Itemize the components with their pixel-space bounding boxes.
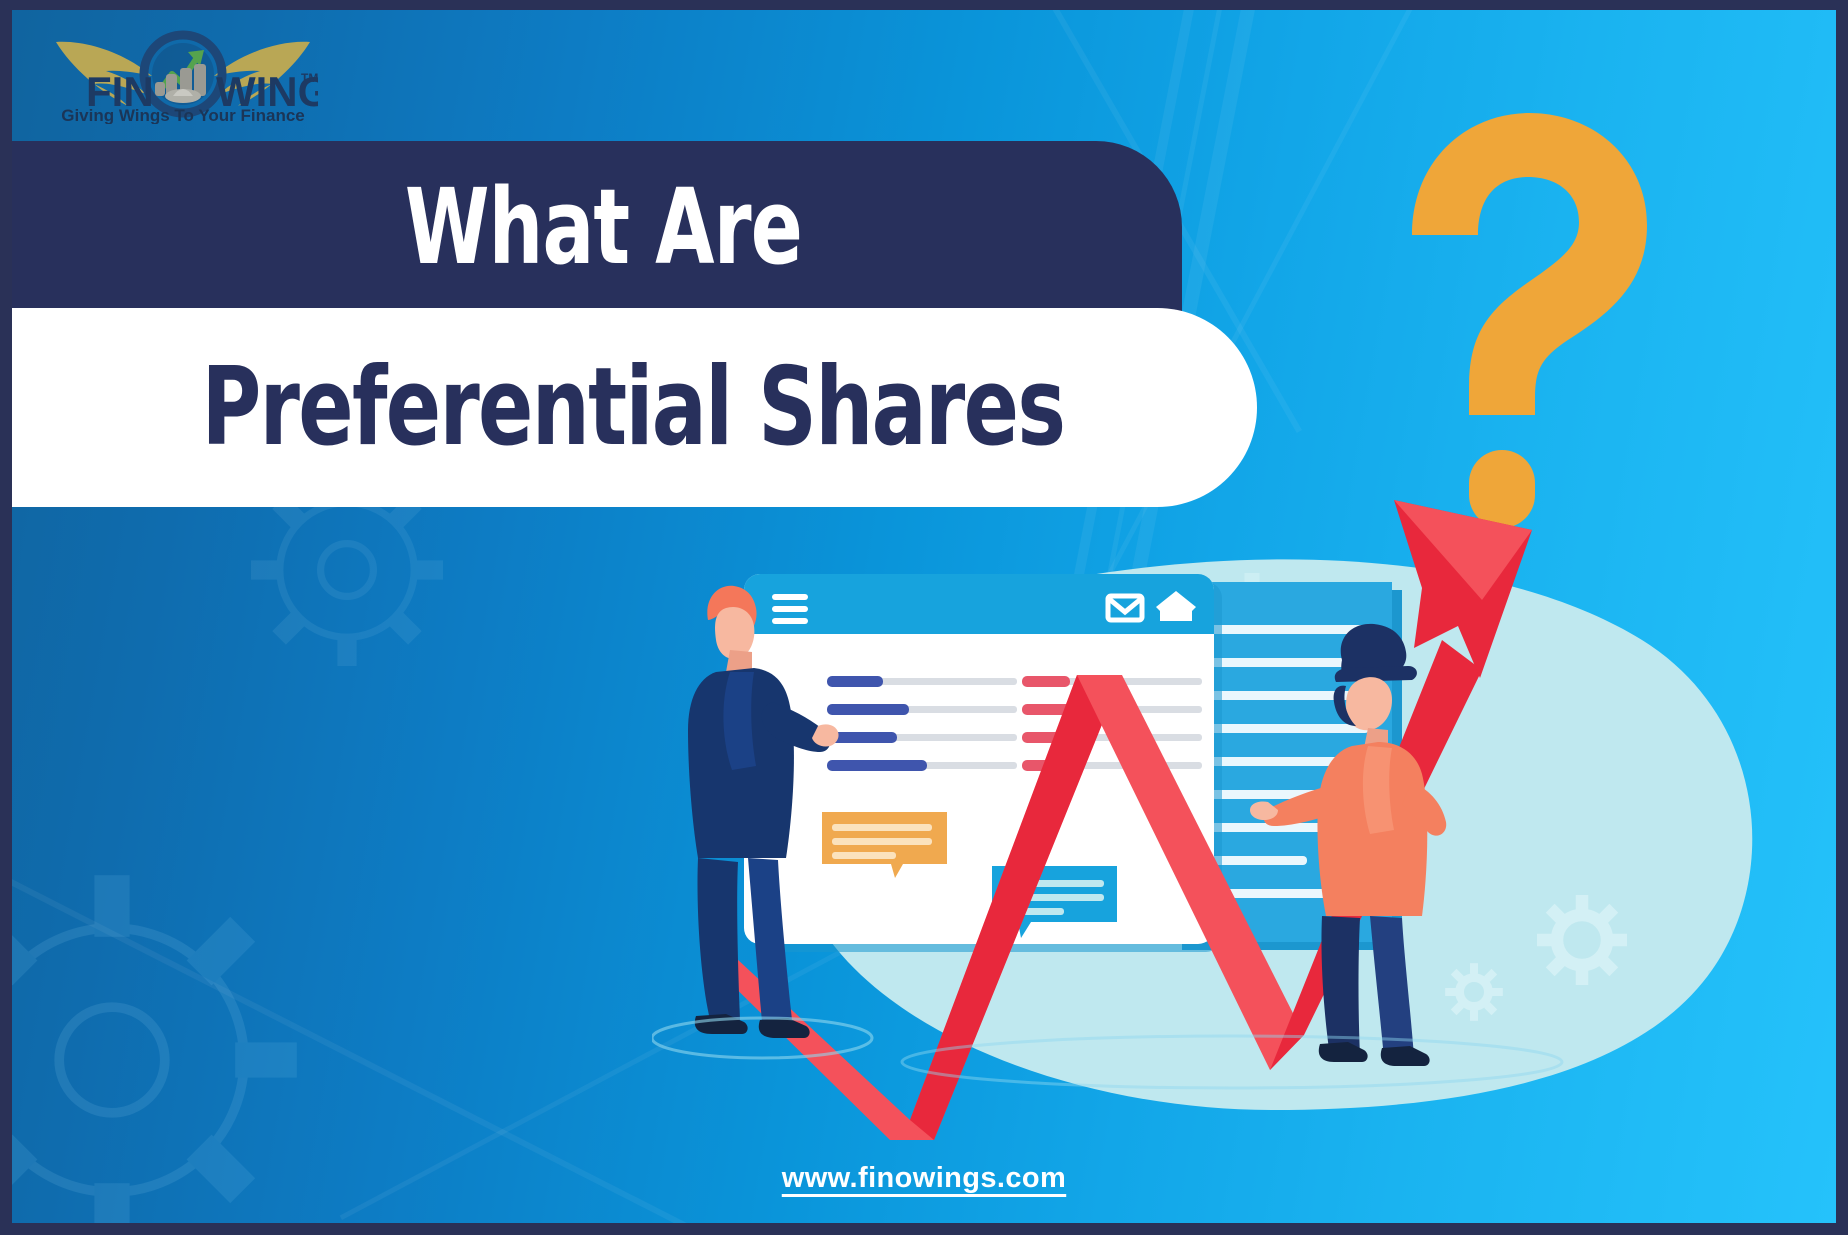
title-line-2: Preferential Shares (93, 354, 1156, 462)
title-line-1: What Are (99, 175, 1075, 279)
title-panel-navy: What Are (12, 141, 1182, 313)
hamburger-menu-icon (772, 594, 808, 624)
hero-illustration (652, 490, 1832, 1150)
title-panel-white: Preferential Shares (12, 308, 1257, 507)
artwork-area: FIN WINGS TM Giving Wings To Your Financ… (12, 10, 1836, 1223)
question-mark-icon (1357, 105, 1687, 535)
poster-canvas: FIN WINGS TM Giving Wings To Your Financ… (0, 0, 1848, 1235)
logo-trademark: TM (301, 71, 318, 85)
brand-logo[interactable]: FIN WINGS TM Giving Wings To Your Financ… (48, 24, 318, 124)
logo-tagline: Giving Wings To Your Finance (61, 106, 305, 124)
website-url-link[interactable]: www.finowings.com (12, 1162, 1836, 1195)
